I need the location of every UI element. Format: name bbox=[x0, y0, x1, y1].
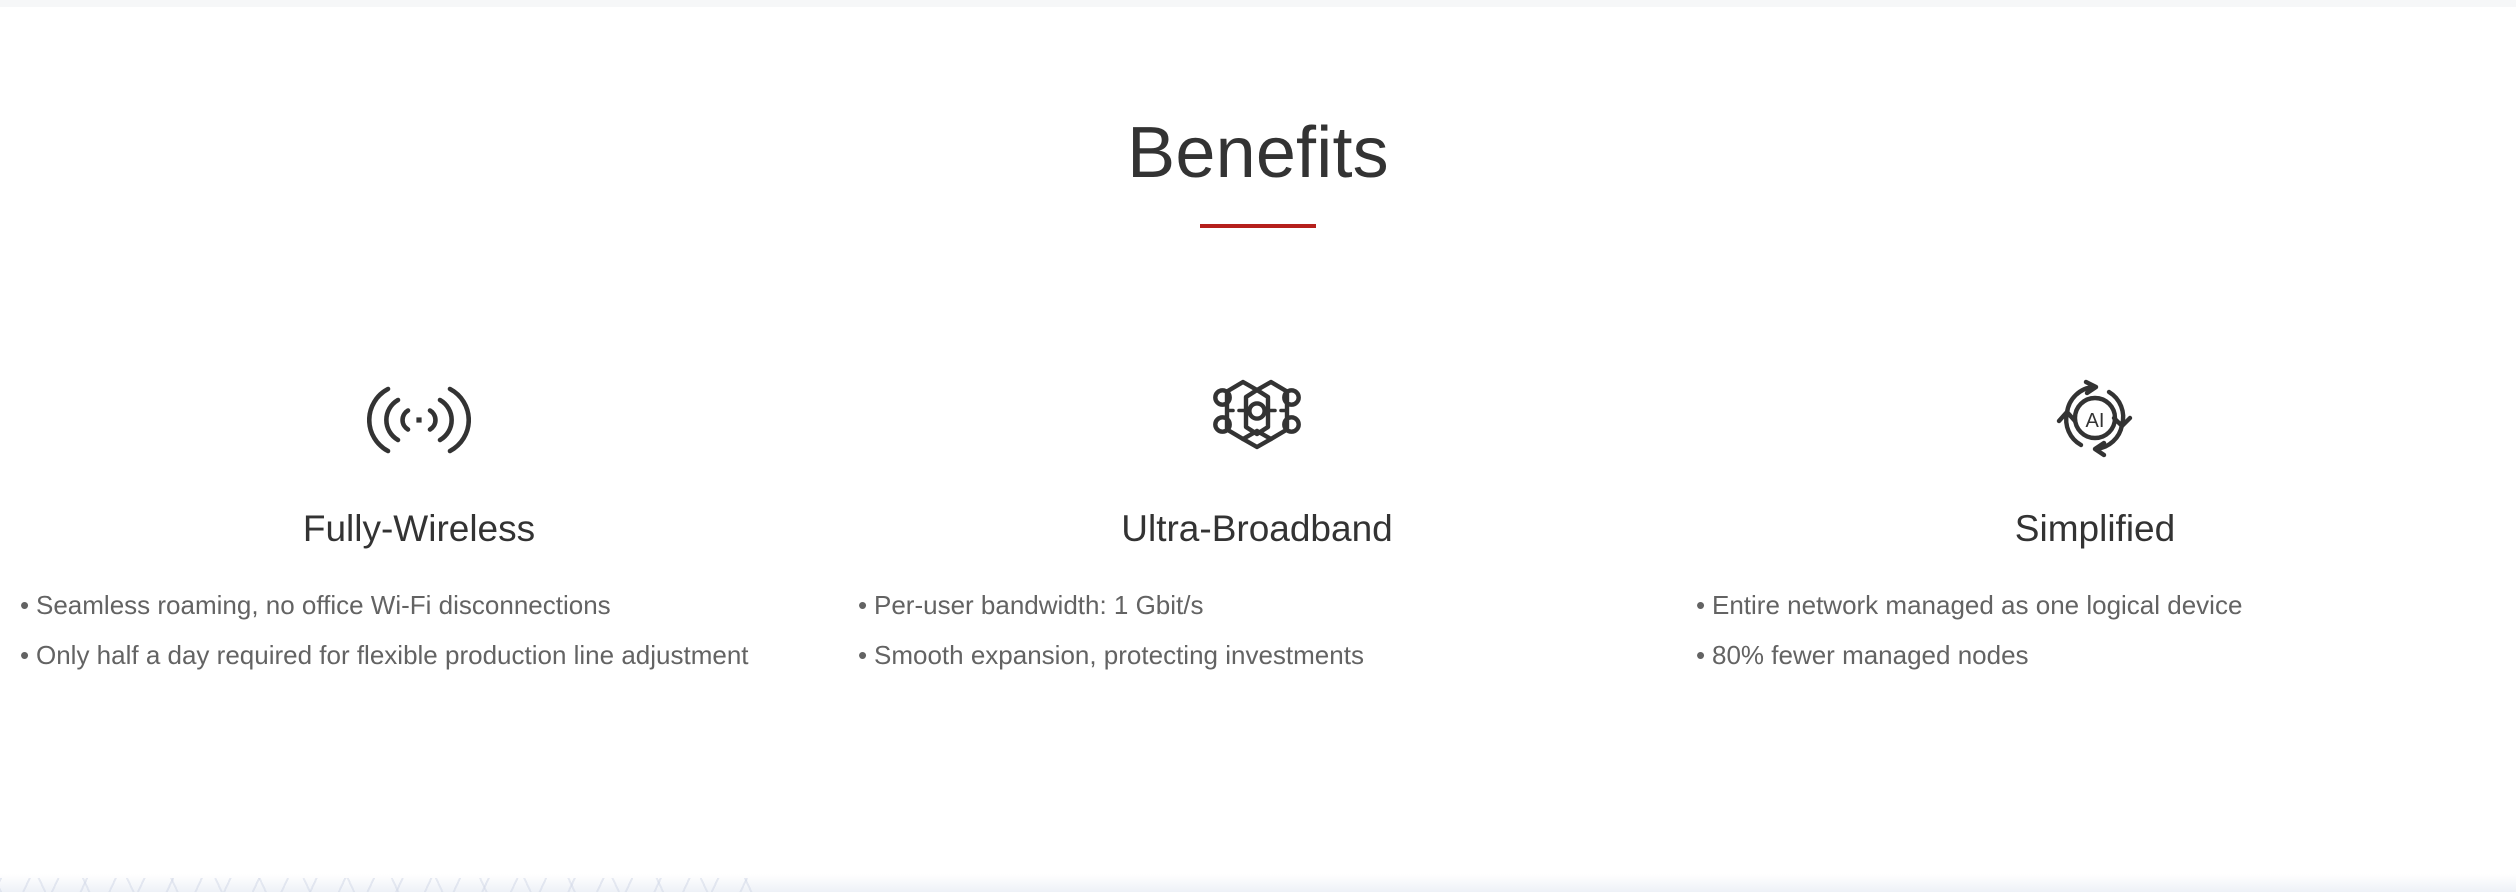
page-title: Benefits bbox=[0, 110, 2516, 196]
list-item-text: Only half a day required for flexible pr… bbox=[36, 638, 838, 672]
benefit-title: Fully-Wireless bbox=[303, 506, 535, 552]
list-item: • Entire network managed as one logical … bbox=[1696, 588, 2514, 622]
benefit-bullet-list: • Entire network managed as one logical … bbox=[1676, 588, 2514, 688]
bullet-dot-icon: • bbox=[1696, 588, 1712, 622]
bullet-dot-icon: • bbox=[858, 588, 874, 622]
benefits-section: Benefits Fully-Wireless • bbox=[0, 0, 2516, 892]
section-header: Benefits bbox=[0, 110, 2516, 228]
list-item-text: Smooth expansion, protecting investments bbox=[874, 638, 1676, 672]
benefits-columns: Fully-Wireless • Seamless roaming, no of… bbox=[0, 368, 2516, 688]
top-edge-strip bbox=[0, 0, 2516, 7]
benefit-card-simplified: AI Simplified • bbox=[1676, 368, 2514, 688]
benefit-card-fully-wireless: Fully-Wireless • Seamless roaming, no of… bbox=[0, 368, 838, 688]
wireless-signal-icon bbox=[367, 368, 471, 472]
list-item-text: Entire network managed as one logical de… bbox=[1712, 588, 2514, 622]
list-item: • Seamless roaming, no office Wi-Fi disc… bbox=[20, 588, 838, 622]
title-underline-rule bbox=[1200, 224, 1316, 228]
benefit-card-ultra-broadband: Ultra-Broadband • Per-user bandwidth: 1 … bbox=[838, 368, 1676, 688]
list-item-text: Seamless roaming, no office Wi-Fi discon… bbox=[36, 588, 838, 622]
bullet-dot-icon: • bbox=[20, 588, 36, 622]
ai-cycle-icon: AI bbox=[2043, 368, 2147, 472]
benefit-bullet-list: • Per-user bandwidth: 1 Gbit/s • Smooth … bbox=[838, 588, 1676, 688]
benefit-title: Simplified bbox=[2015, 506, 2175, 552]
bullet-dot-icon: • bbox=[1696, 638, 1712, 672]
svg-text:AI: AI bbox=[2086, 410, 2105, 432]
decorative-pattern bbox=[0, 878, 760, 892]
list-item-text: 80% fewer managed nodes bbox=[1712, 638, 2514, 672]
list-item: • 80% fewer managed nodes bbox=[1696, 638, 2514, 672]
list-item: • Per-user bandwidth: 1 Gbit/s bbox=[858, 588, 1676, 622]
list-item: • Only half a day required for flexible … bbox=[20, 638, 838, 672]
benefit-bullet-list: • Seamless roaming, no office Wi-Fi disc… bbox=[0, 588, 838, 688]
bullet-dot-icon: • bbox=[858, 638, 874, 672]
list-item-text: Per-user bandwidth: 1 Gbit/s bbox=[874, 588, 1676, 622]
bullet-dot-icon: • bbox=[20, 638, 36, 672]
network-bandwidth-icon bbox=[1205, 368, 1309, 472]
benefit-title: Ultra-Broadband bbox=[1121, 506, 1392, 552]
next-section-edge bbox=[0, 874, 2516, 892]
list-item: • Smooth expansion, protecting investmen… bbox=[858, 638, 1676, 672]
